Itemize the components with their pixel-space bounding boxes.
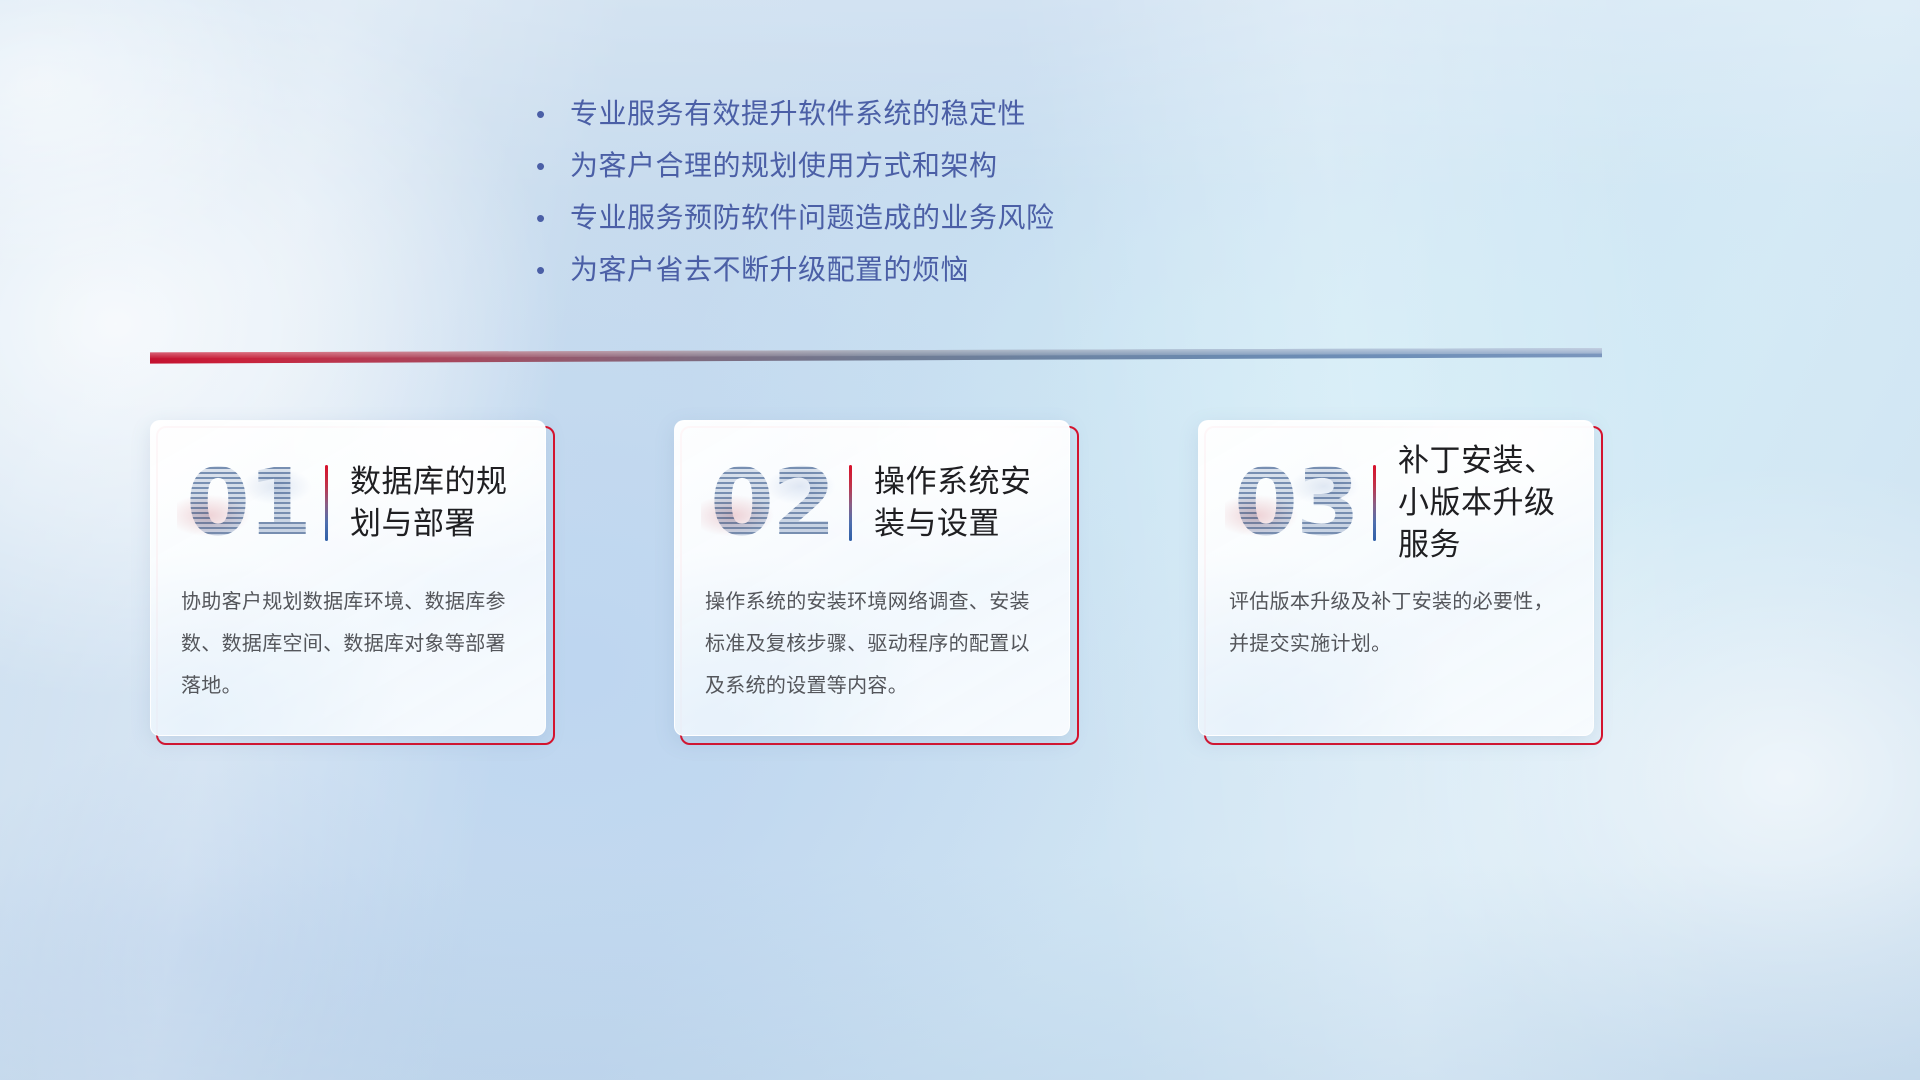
card-title-divider xyxy=(849,465,852,541)
card-number-text: 02 xyxy=(710,457,834,549)
service-card-02[interactable]: 02 操作系统安装与设置 操作系统的安装环境网络调查、安装标准及复核步骤、驱动程… xyxy=(674,420,1078,744)
service-card-row: 01 数据库的规划与部署 协助客户规划数据库环境、数据库参数、数据库空间、数据库… xyxy=(150,420,1602,750)
section-divider-bar xyxy=(150,348,1602,368)
card-title: 操作系统安装与设置 xyxy=(874,461,1069,545)
card-description: 协助客户规划数据库环境、数据库参数、数据库空间、数据库对象等部署落地。 xyxy=(181,581,519,707)
list-item: • 为客户省去不断升级配置的烦恼 xyxy=(536,244,1296,296)
bullet-text: 专业服务有效提升软件系统的稳定性 xyxy=(570,88,1026,140)
card-header: 02 操作系统安装与设置 xyxy=(675,449,1069,557)
bullet-text: 为客户合理的规划使用方式和架构 xyxy=(570,140,998,192)
bullet-dot-icon: • xyxy=(536,192,570,244)
card-title: 数据库的规划与部署 xyxy=(350,461,545,545)
bullet-dot-icon: • xyxy=(536,88,570,140)
list-item: • 为客户合理的规划使用方式和架构 xyxy=(536,140,1296,192)
card-surface: 01 数据库的规划与部署 协助客户规划数据库环境、数据库参数、数据库空间、数据库… xyxy=(150,420,546,736)
card-number-watermark: 01 xyxy=(177,451,319,555)
card-header: 03 补丁安装、小版本升级服务 xyxy=(1199,449,1593,557)
card-description: 评估版本升级及补丁安装的必要性，并提交实施计划。 xyxy=(1229,581,1567,665)
card-title-divider xyxy=(1373,465,1376,541)
bullet-dot-icon: • xyxy=(536,244,570,296)
card-title-divider xyxy=(325,465,328,541)
card-number-watermark: 03 xyxy=(1225,451,1367,555)
bullet-text: 专业服务预防软件问题造成的业务风险 xyxy=(570,192,1055,244)
card-number-text: 03 xyxy=(1234,457,1358,549)
card-number-text: 01 xyxy=(186,457,310,549)
card-surface: 03 补丁安装、小版本升级服务 评估版本升级及补丁安装的必要性，并提交实施计划。 xyxy=(1198,420,1594,736)
list-item: • 专业服务有效提升软件系统的稳定性 xyxy=(536,88,1296,140)
list-item: • 专业服务预防软件问题造成的业务风险 xyxy=(536,192,1296,244)
card-title: 补丁安装、小版本升级服务 xyxy=(1398,440,1593,566)
card-number-watermark: 02 xyxy=(701,451,843,555)
bullet-dot-icon: • xyxy=(536,140,570,192)
card-surface: 02 操作系统安装与设置 操作系统的安装环境网络调查、安装标准及复核步骤、驱动程… xyxy=(674,420,1070,736)
card-description: 操作系统的安装环境网络调查、安装标准及复核步骤、驱动程序的配置以及系统的设置等内… xyxy=(705,581,1043,707)
benefits-bullet-list: • 专业服务有效提升软件系统的稳定性 • 为客户合理的规划使用方式和架构 • 专… xyxy=(536,88,1296,296)
service-card-01[interactable]: 01 数据库的规划与部署 协助客户规划数据库环境、数据库参数、数据库空间、数据库… xyxy=(150,420,554,744)
bullet-text: 为客户省去不断升级配置的烦恼 xyxy=(570,244,969,296)
card-header: 01 数据库的规划与部署 xyxy=(151,449,545,557)
service-card-03[interactable]: 03 补丁安装、小版本升级服务 评估版本升级及补丁安装的必要性，并提交实施计划。 xyxy=(1198,420,1602,744)
